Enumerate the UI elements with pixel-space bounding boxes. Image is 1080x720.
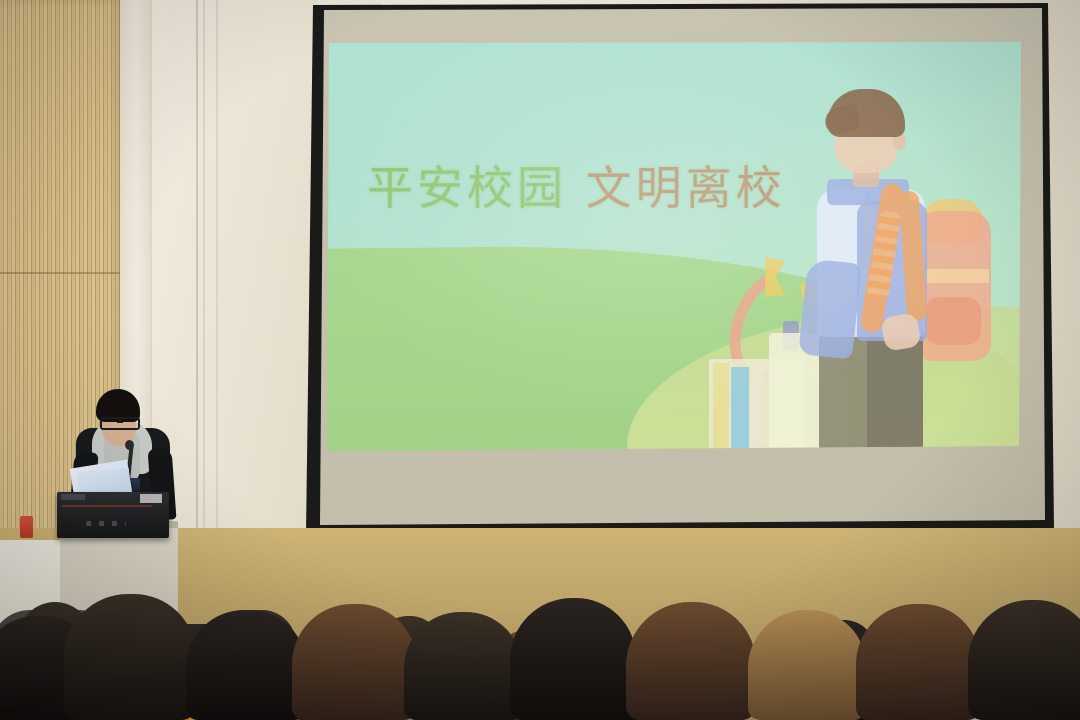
wall-seam	[203, 0, 205, 548]
console-knobs	[86, 521, 126, 526]
wall-seam	[216, 0, 218, 548]
projected-slide: 平安校园 文明离校	[327, 42, 1021, 451]
audience-head-front	[968, 600, 1080, 720]
plaster-column	[150, 0, 318, 560]
audience-head-front	[186, 610, 306, 720]
audience-head-front	[404, 612, 522, 720]
fire-alarm-box	[20, 516, 33, 538]
book-spine	[713, 363, 729, 451]
backpack-pocket	[925, 297, 981, 345]
console-strip	[62, 505, 152, 507]
photo-scene: 平安校园 文明离校	[0, 0, 1080, 720]
audience-head-front	[292, 604, 416, 720]
console-tag	[140, 494, 162, 503]
book-spine	[731, 367, 749, 451]
book-spine	[751, 363, 765, 451]
student-sleeve	[798, 258, 862, 359]
audience-head-front	[856, 604, 980, 720]
console-label	[61, 494, 85, 500]
audience-head-front	[626, 602, 756, 720]
audience-head-front	[748, 610, 866, 720]
speaker-glasses	[100, 417, 140, 430]
wall-seam	[196, 0, 198, 548]
audience-head-front	[64, 594, 196, 720]
audience	[0, 540, 1080, 720]
slide-title-primary: 平安校园	[367, 161, 567, 215]
audience-head-front	[510, 598, 636, 720]
microphone-icon	[125, 440, 134, 450]
slide-illustration	[707, 71, 1007, 451]
